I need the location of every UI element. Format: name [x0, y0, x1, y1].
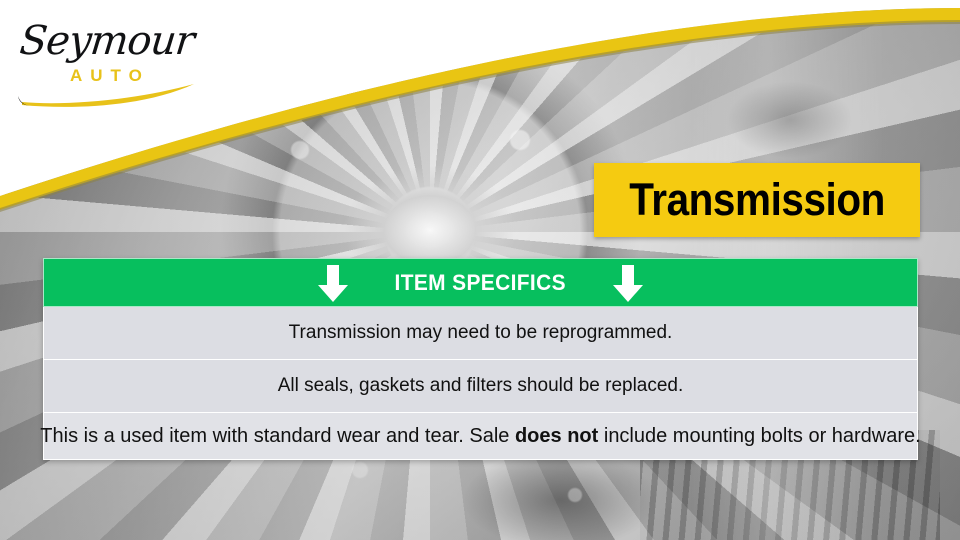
arrow-down-icon [611, 263, 645, 303]
slide-canvas: Seymour AUTO Transmission ITEM SPECIFICS… [0, 0, 960, 540]
spec-row-text: Transmission may need to be reprogrammed… [279, 322, 683, 344]
spec-text-emphasis: does not [515, 425, 598, 447]
arrow-down-icon [316, 263, 350, 303]
spec-text-after: include mounting bolts or hardware. [598, 425, 920, 447]
spec-row: All seals, gaskets and filters should be… [43, 360, 918, 413]
item-specifics-header: ITEM SPECIFICS [43, 258, 918, 307]
brand-swoosh-icon [16, 76, 202, 108]
spec-row: This is a used item with standard wear a… [43, 413, 918, 460]
brand-script-name: Seymour [18, 18, 196, 64]
page-title: Transmission [629, 174, 885, 226]
item-specifics-table: ITEM SPECIFICS Transmission may need to … [43, 258, 918, 460]
brand-logo[interactable]: Seymour AUTO [14, 14, 204, 106]
title-banner: Transmission [594, 163, 920, 237]
item-specifics-label: ITEM SPECIFICS [395, 270, 566, 296]
spec-text-before: This is a used item with standard wear a… [40, 425, 515, 447]
spec-row-text-composite: This is a used item with standard wear a… [30, 425, 930, 448]
spec-row-text: All seals, gaskets and filters should be… [268, 375, 694, 397]
spec-row: Transmission may need to be reprogrammed… [43, 307, 918, 360]
